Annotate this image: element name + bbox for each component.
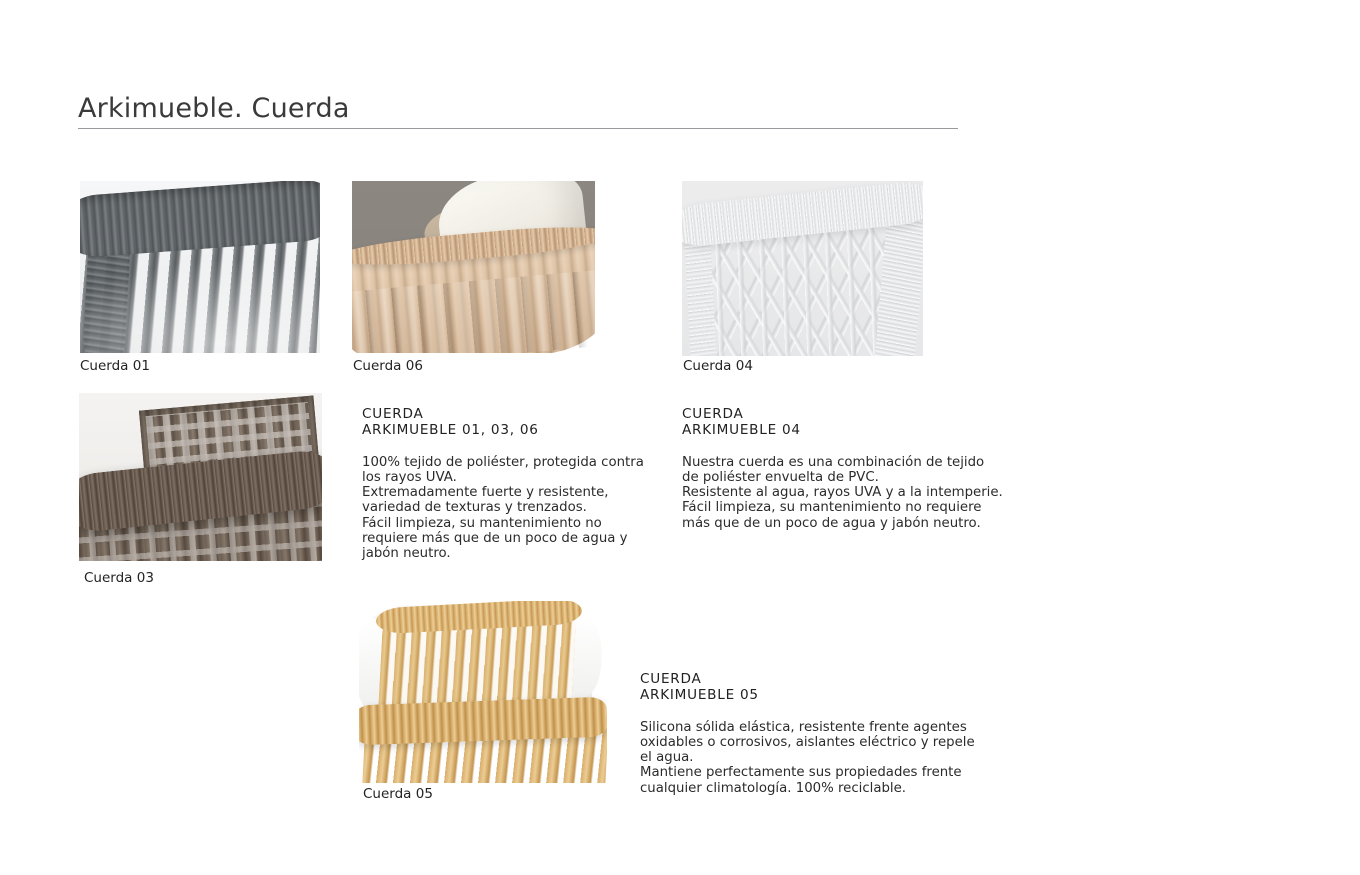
- info-heading-line1: CUERDA: [640, 671, 950, 687]
- info-body-line: variedad de texturas y trenzados.: [362, 500, 632, 515]
- white-rope-texture: [682, 181, 923, 356]
- caption-cuerda-05: Cuerda 05: [363, 786, 433, 802]
- info-body-line: Resistente al agua, rayos UVA y a la int…: [682, 485, 982, 500]
- caption-cuerda-01: Cuerda 01: [80, 358, 150, 374]
- caption-cuerda-06: Cuerda 06: [353, 358, 423, 374]
- caption-cuerda-04: Cuerda 04: [683, 358, 753, 374]
- taupe-rope-texture: [79, 393, 322, 561]
- info-body-line: cualquier climatología. 100% reciclable.: [640, 781, 950, 796]
- info-heading-line1: CUERDA: [682, 406, 982, 422]
- photo-cuerda-04: [682, 181, 923, 356]
- golden-rope-texture: [359, 601, 607, 783]
- info-body-line: Extremadamente fuerte y resistente,: [362, 485, 632, 500]
- info-body-line: el agua.: [640, 750, 950, 765]
- info-heading-line2: ARKIMUEBLE 05: [640, 687, 950, 703]
- caption-cuerda-03: Cuerda 03: [84, 570, 154, 586]
- photo-cuerda-01: [80, 181, 320, 353]
- info-heading-line2: ARKIMUEBLE 01, 03, 06: [362, 422, 632, 438]
- info-block-cuerda-05: CUERDA ARKIMUEBLE 05 Silicona sólida elá…: [640, 671, 950, 796]
- info-block-cuerda-010306: CUERDA ARKIMUEBLE 01, 03, 06 100% tejido…: [362, 406, 632, 562]
- info-body-line: 100% tejido de poliéster, protegida cont…: [362, 455, 632, 470]
- info-body-line: oxidables o corrosivos, aislantes eléctr…: [640, 735, 950, 750]
- photo-cuerda-05: [359, 601, 607, 783]
- photo-cuerda-06: [352, 181, 595, 353]
- info-body-line: Mantiene perfectamente sus propiedades f…: [640, 765, 950, 780]
- info-heading-line2: ARKIMUEBLE 04: [682, 422, 982, 438]
- info-body-line: los rayos UVA.: [362, 470, 632, 485]
- info-body-line: más que de un poco de agua y jabón neutr…: [682, 516, 982, 531]
- gray-rope-texture: [80, 181, 320, 353]
- info-body-line: Fácil limpieza, su mantenimiento no requ…: [682, 500, 982, 515]
- info-heading-line1: CUERDA: [362, 406, 632, 422]
- page-title: Arkimueble. Cuerda: [78, 93, 350, 124]
- info-body-line: jabón neutro.: [362, 546, 632, 561]
- info-block-cuerda-04: CUERDA ARKIMUEBLE 04 Nuestra cuerda es u…: [682, 406, 982, 531]
- info-body: 100% tejido de poliéster, protegida cont…: [362, 455, 632, 562]
- info-body-line: Nuestra cuerda es una combinación de tej…: [682, 455, 982, 470]
- title-divider: [78, 128, 958, 129]
- info-body: Nuestra cuerda es una combinación de tej…: [682, 455, 982, 531]
- info-body-line: de poliéster envuelta de PVC.: [682, 470, 982, 485]
- info-body-line: Fácil limpieza, su mantenimiento no: [362, 516, 632, 531]
- photo-cuerda-03: [79, 393, 322, 561]
- photo-highlight: [80, 181, 320, 353]
- info-body-line: Silicona sólida elástica, resistente fre…: [640, 720, 950, 735]
- beige-rope-texture: [352, 181, 595, 353]
- info-body-line: requiere más que de un poco de agua y: [362, 531, 632, 546]
- info-body: Silicona sólida elástica, resistente fre…: [640, 720, 950, 796]
